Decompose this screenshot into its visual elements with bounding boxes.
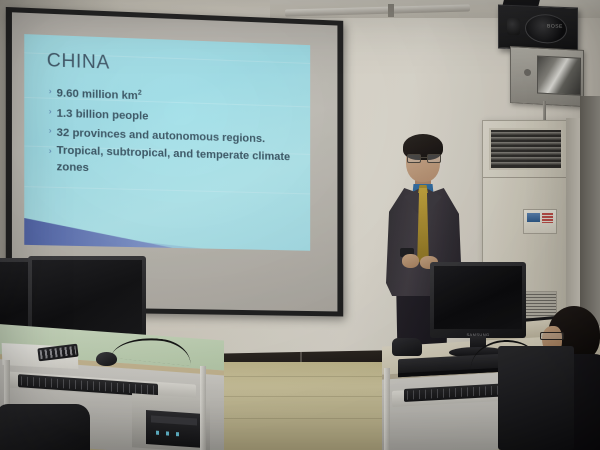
right-desk-leg-a xyxy=(384,368,390,450)
speaker-brand-label: BOSE xyxy=(547,23,563,30)
pc-power-led-icon xyxy=(156,431,159,435)
pc-tower[interactable] xyxy=(146,410,204,448)
speaker-tweeter-icon xyxy=(507,18,520,35)
slide-title: CHINA xyxy=(47,50,110,74)
ac-intake-grille-icon xyxy=(489,128,563,170)
glasses-icon xyxy=(407,154,439,161)
presenter-hand-left xyxy=(402,254,419,268)
student-glasses-icon xyxy=(540,332,564,340)
mouse-left[interactable] xyxy=(96,352,117,366)
chair-backrest[interactable] xyxy=(0,404,90,450)
projected-slide: CHINA › 9.60 million km2 › 1.3 billion p… xyxy=(24,34,310,251)
left-desk-leg-b xyxy=(200,366,206,450)
ac-control-panel[interactable] xyxy=(523,209,557,234)
cabinet-glass-window xyxy=(537,55,581,95)
bullet-label: Tropical, subtropical, and temperate cli… xyxy=(57,144,299,182)
pc-activity-led-icon xyxy=(166,431,169,435)
classroom-photo: CHINA › 9.60 million km2 › 1.3 billion p… xyxy=(0,0,600,450)
rail-bracket-icon xyxy=(388,4,394,17)
bullet-label: 32 provinces and autonomous regions. xyxy=(57,124,265,147)
bullet-label: 1.3 billion people xyxy=(57,104,149,124)
bullet-marker-icon: › xyxy=(49,84,52,99)
headset-device[interactable] xyxy=(392,338,422,356)
right-desk-monitor[interactable]: SAMSUNG xyxy=(430,262,526,338)
cabinet-knob-icon[interactable] xyxy=(524,69,531,76)
ac-control-buttons[interactable] xyxy=(542,213,553,223)
right-window-frame xyxy=(580,96,600,326)
wall-metal-cabinet xyxy=(510,46,584,107)
pc-usb-led-icon xyxy=(176,432,179,436)
monitor-screen xyxy=(32,260,142,335)
slide-bullet-list: › 9.60 million km2 › 1.3 billion people … xyxy=(49,84,299,185)
bullet-marker-icon: › xyxy=(49,123,52,138)
pc-optical-drive-icon[interactable] xyxy=(151,415,197,425)
list-item: › Tropical, subtropical, and temperate c… xyxy=(49,143,299,181)
wall-column xyxy=(566,118,580,324)
slide-accent-wedge-dark xyxy=(24,206,196,251)
bullet-marker-icon: › xyxy=(49,143,52,158)
foreground-monitor[interactable] xyxy=(498,346,574,450)
bullet-marker-icon: › xyxy=(49,104,52,119)
bullet-label: 9.60 million km2 xyxy=(57,84,142,104)
ac-display-screen xyxy=(527,213,540,222)
ac-panel-seam xyxy=(483,177,567,178)
monitor-screen xyxy=(434,266,522,329)
wall-speaker: BOSE xyxy=(498,4,578,51)
